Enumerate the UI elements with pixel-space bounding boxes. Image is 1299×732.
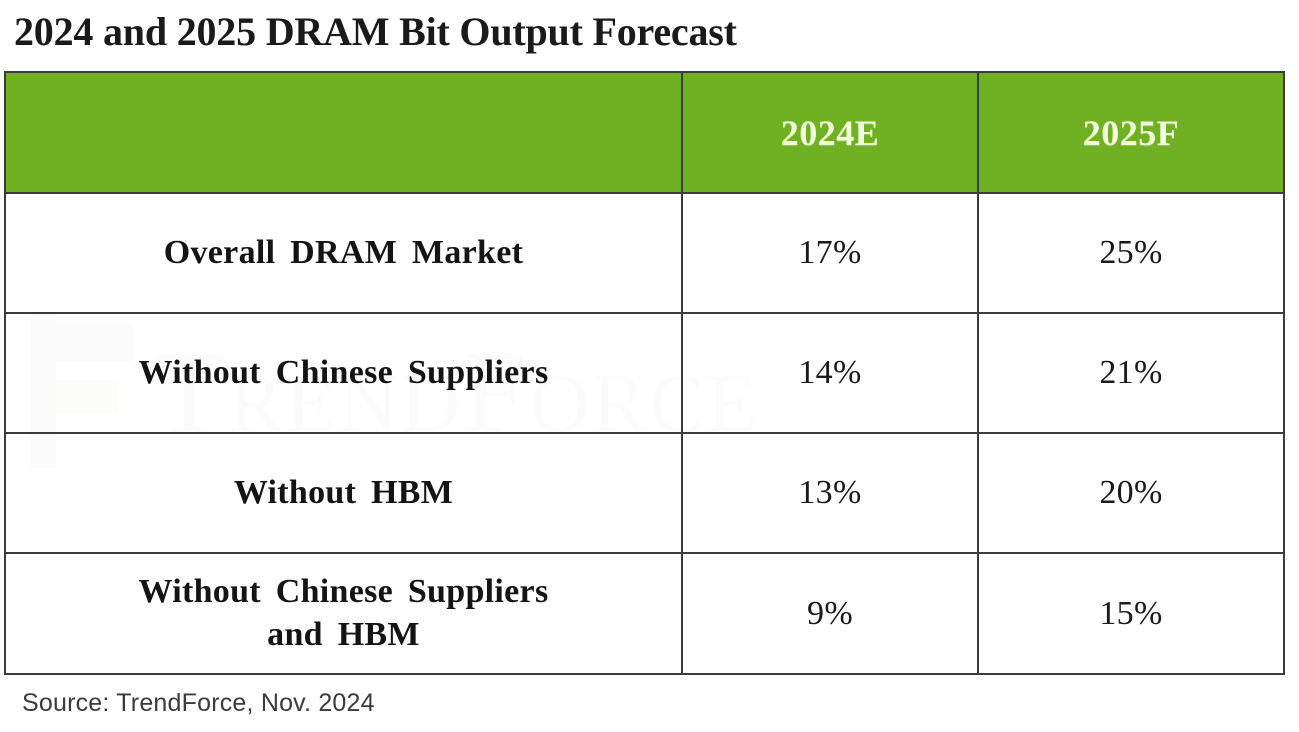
column-header-2024e: 2024E xyxy=(682,72,978,193)
table-row: Overall DRAM Market 17% 25% xyxy=(5,193,1284,313)
table-header-row: 2024E 2025F xyxy=(5,72,1284,193)
row-label-line-2: and HBM xyxy=(267,616,420,653)
column-header-label xyxy=(5,72,682,193)
row-label-overall-dram-market: Overall DRAM Market xyxy=(5,193,682,313)
table-header: 2024E 2025F xyxy=(5,72,1284,193)
forecast-table-page: 2024 and 2025 DRAM Bit Output Forecast T… xyxy=(0,0,1299,732)
cell-overall-dram-market-2025f: 25% xyxy=(978,193,1284,313)
table-row: Without HBM 13% 20% xyxy=(5,433,1284,553)
source-note: Source: TrendForce, Nov. 2024 xyxy=(22,686,375,720)
cell-without-chinese-suppliers-2025f: 21% xyxy=(978,313,1284,433)
cell-without-chinese-suppliers-and-hbm-2024e: 9% xyxy=(682,553,978,674)
table-body: Overall DRAM Market 17% 25% Without Chin… xyxy=(5,193,1284,674)
forecast-table-container: 2024E 2025F Overall DRAM Market 17% 25% … xyxy=(4,71,1283,673)
cell-overall-dram-market-2024e: 17% xyxy=(682,193,978,313)
row-label-without-chinese-suppliers: Without Chinese Suppliers xyxy=(5,313,682,433)
table-row: Without Chinese Suppliers 14% 21% xyxy=(5,313,1284,433)
cell-without-chinese-suppliers-and-hbm-2025f: 15% xyxy=(978,553,1284,674)
cell-without-hbm-2024e: 13% xyxy=(682,433,978,553)
page-title: 2024 and 2025 DRAM Bit Output Forecast xyxy=(14,4,1274,60)
column-header-2025f: 2025F xyxy=(978,72,1284,193)
dram-bit-output-forecast-table: 2024E 2025F Overall DRAM Market 17% 25% … xyxy=(4,71,1285,675)
row-label-without-hbm: Without HBM xyxy=(5,433,682,553)
cell-without-chinese-suppliers-2024e: 14% xyxy=(682,313,978,433)
table-row: Without Chinese Suppliers and HBM 9% 15% xyxy=(5,553,1284,674)
row-label-without-chinese-suppliers-and-hbm: Without Chinese Suppliers and HBM xyxy=(5,553,682,674)
cell-without-hbm-2025f: 20% xyxy=(978,433,1284,553)
row-label-line-1: Without Chinese Suppliers xyxy=(139,573,549,610)
